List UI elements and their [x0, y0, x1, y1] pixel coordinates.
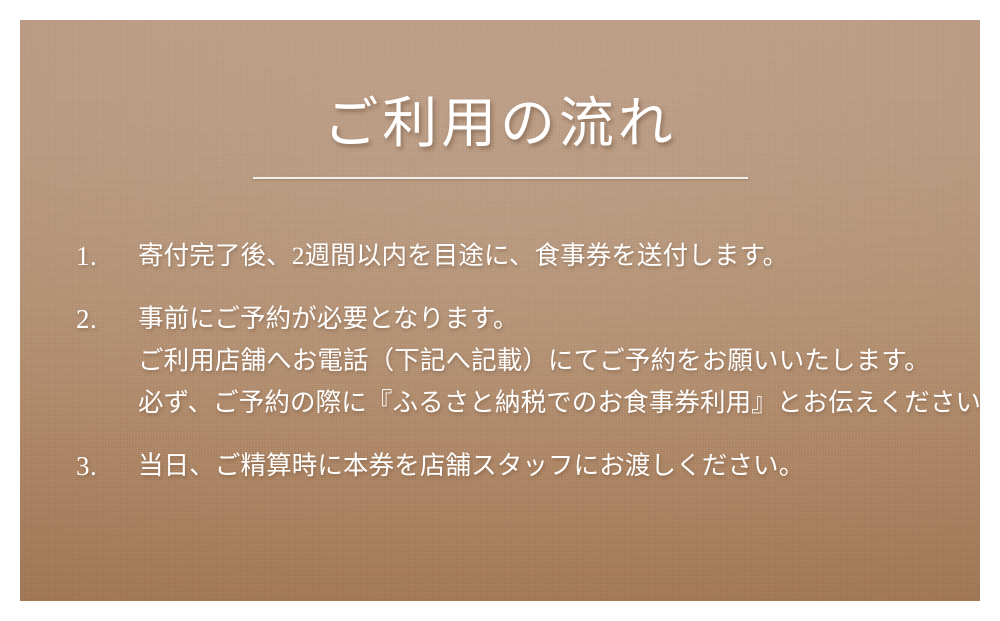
- title-block: ご利用の流れ: [20, 92, 980, 155]
- steps-list: 1. 寄付完了後、2週間以内を目途に、食事券を送付します。 2. 事前にご予約が…: [20, 235, 980, 487]
- step-item-2: 2. 事前にご予約が必要となります。 ご利用店舗へお電話（下記へ記載）にてご予約…: [20, 298, 980, 424]
- content-layer: ご利用の流れ 1. 寄付完了後、2週間以内を目途に、食事券を送付します。 2. …: [20, 20, 980, 601]
- step-text-3: 当日、ご精算時に本券を店舗スタッフにお渡しください。: [138, 445, 980, 487]
- title-divider-rule: [253, 177, 748, 179]
- step-line: 必ず、ご予約の際に『ふるさと納税でのお食事券利用』とお伝えください。: [138, 382, 980, 424]
- step-line: ご利用店舗へお電話（下記へ記載）にてご予約をお願いいたします。: [138, 340, 980, 382]
- step-line: 当日、ご精算時に本券を店舗スタッフにお渡しください。: [138, 445, 980, 487]
- coupon-info-card: ご利用の流れ 1. 寄付完了後、2週間以内を目途に、食事券を送付します。 2. …: [20, 20, 980, 601]
- step-item-1: 1. 寄付完了後、2週間以内を目途に、食事券を送付します。: [20, 235, 980, 277]
- step-line: 事前にご予約が必要となります。: [138, 298, 980, 340]
- step-line: 寄付完了後、2週間以内を目途に、食事券を送付します。: [138, 235, 980, 277]
- page-title: ご利用の流れ: [20, 92, 980, 155]
- step-item-3: 3. 当日、ご精算時に本券を店舗スタッフにお渡しください。: [20, 445, 980, 487]
- step-number-2: 2.: [76, 298, 138, 340]
- step-text-1: 寄付完了後、2週間以内を目途に、食事券を送付します。: [138, 235, 980, 277]
- step-number-1: 1.: [76, 235, 138, 277]
- step-text-2: 事前にご予約が必要となります。 ご利用店舗へお電話（下記へ記載）にてご予約をお願…: [138, 298, 980, 424]
- step-number-3: 3.: [76, 445, 138, 487]
